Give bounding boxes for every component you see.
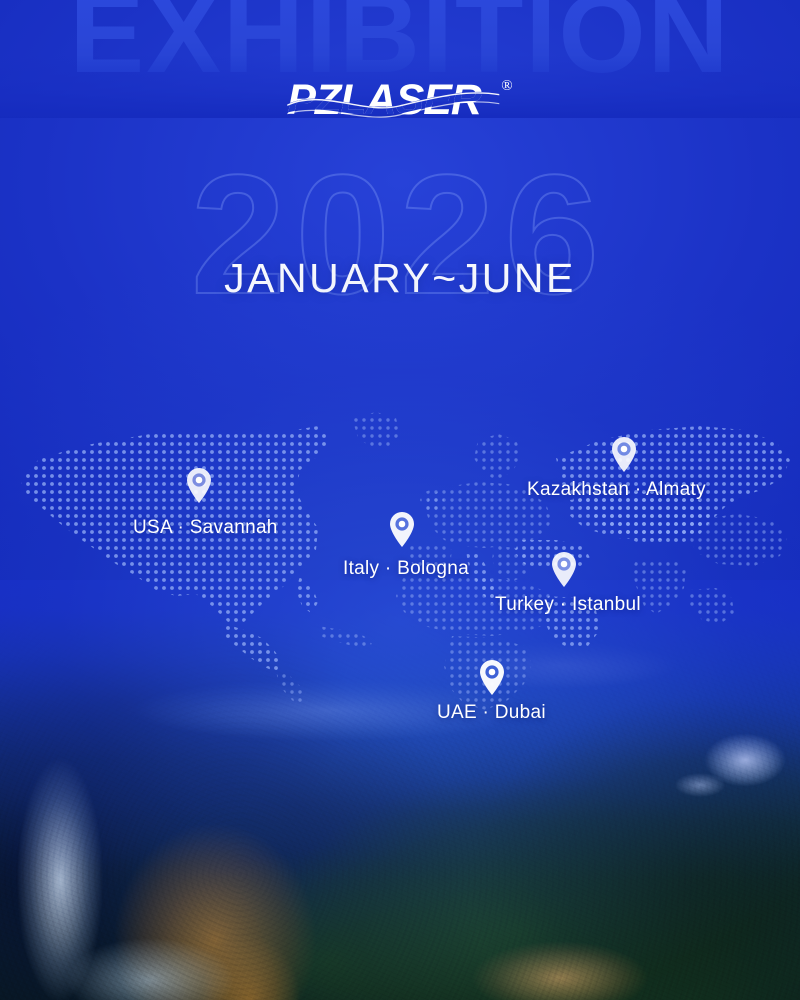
location-pin-icon — [387, 510, 417, 548]
pzlaser-wordmark-icon: PZLASER PZLASER — [287, 78, 499, 124]
aerial-landscape-photo — [0, 580, 800, 1000]
map-pin-kazakhstan-almaty[interactable] — [609, 435, 639, 473]
location-label-kazakhstan-almaty: Kazakhstan · Almaty — [527, 479, 706, 501]
map-pin-turkey-istanbul[interactable] — [549, 550, 579, 588]
aerial-photo-texture — [0, 580, 800, 1000]
location-label-uae-dubai: UAE · Dubai — [437, 702, 546, 724]
page-title: JANUARY~JUNE — [0, 255, 800, 302]
pzlaser-logo: PZLASER PZLASER ® — [287, 78, 512, 124]
map-pin-italy-bologna[interactable] — [387, 510, 417, 548]
map-pin-usa-savannah[interactable] — [184, 466, 214, 504]
location-label-italy-bologna: Italy · Bologna — [343, 558, 469, 580]
location-pin-icon — [184, 466, 214, 504]
exhibition-watermark-text: EXHIBITION — [0, 0, 800, 90]
location-label-usa-savannah: USA · Savannah — [133, 517, 278, 539]
location-pin-icon — [477, 658, 507, 696]
exhibition-poster: EXHIBITION 2026 PZLASER PZLASER ® JANUAR… — [0, 0, 800, 1000]
map-pin-uae-dubai[interactable] — [477, 658, 507, 696]
location-pin-icon — [609, 435, 639, 473]
location-pin-icon — [549, 550, 579, 588]
location-label-turkey-istanbul: Turkey · Istanbul — [495, 594, 641, 616]
registered-trademark-icon: ® — [501, 79, 512, 94]
